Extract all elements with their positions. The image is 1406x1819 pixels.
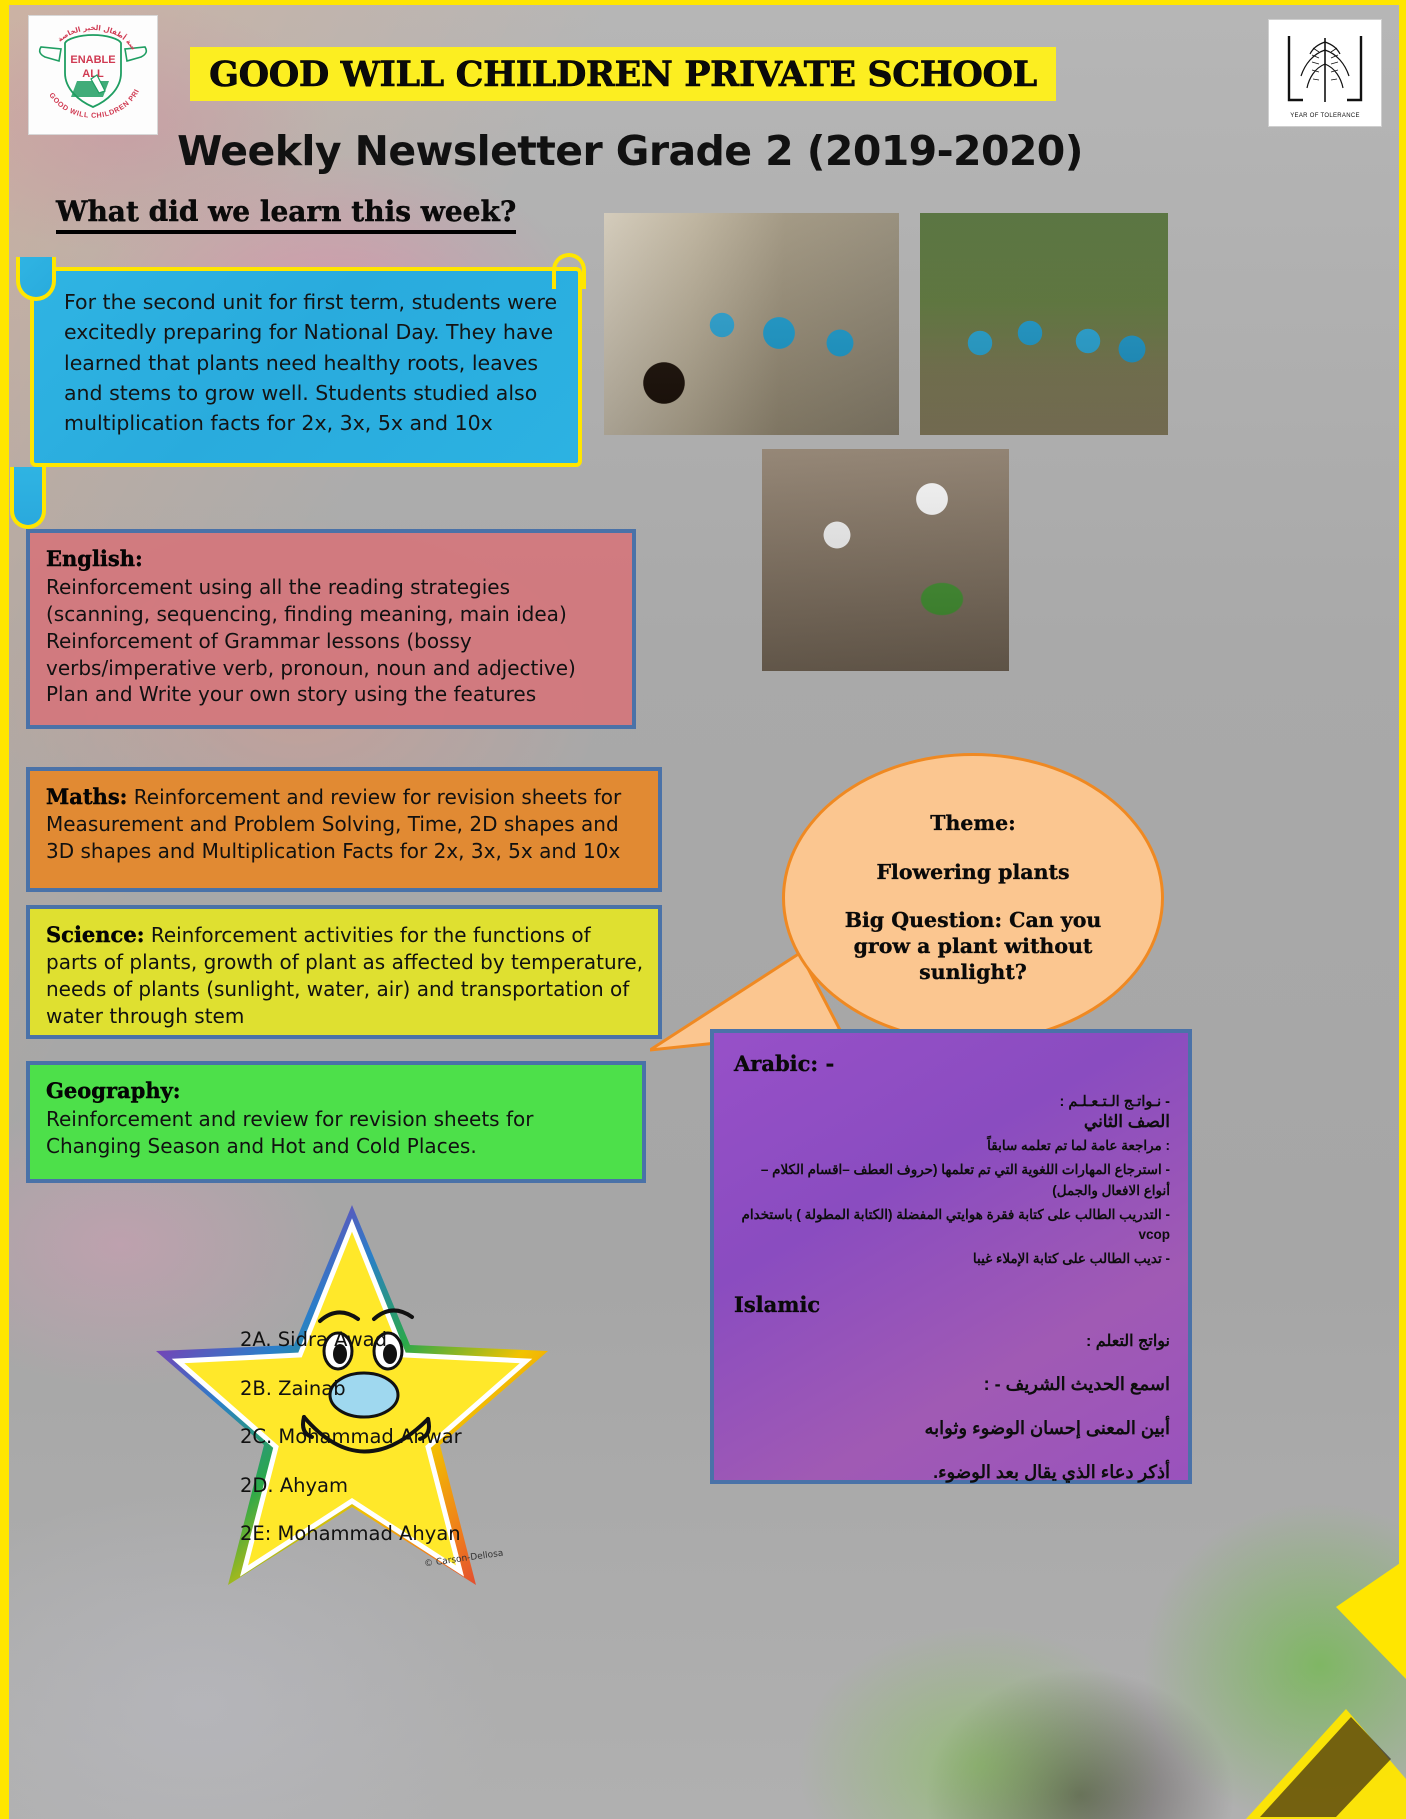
newsletter-page: ENABLE ALL GOOD WILL CHILDREN PRIVATE SC… <box>0 0 1406 1819</box>
subject-body-geography: Reinforcement and review for revision sh… <box>46 1107 533 1158</box>
list-item: 2A. Sidra Awad <box>240 1330 540 1350</box>
theme-label: Theme: <box>930 810 1016 836</box>
weekly-summary-text: For the second unit for first term, stud… <box>34 271 578 449</box>
subject-label-maths: Maths: <box>46 784 127 809</box>
arabic-line-3: - التدريب الطالب على كتابة فقرة هوايتي ا… <box>734 1205 1170 1246</box>
islamic-line-2: اسمع الحديث الشريف - : <box>734 1367 1170 1401</box>
subject-body-maths: Reinforcement and review for revision sh… <box>46 785 621 863</box>
big-question: Big Question: Can you grow a plant witho… <box>825 907 1121 986</box>
page-title: Weekly Newsletter Grade 2 (2019-2020) <box>0 127 1260 175</box>
subject-body-english: Reinforcement using all the reading stra… <box>46 575 576 706</box>
arabic-line-4: - تديب الطالب على كتابة الإملاء غيبا <box>734 1249 1170 1269</box>
subject-box-geography: Geography:Reinforcement and review for r… <box>26 1061 646 1183</box>
scroll-curl-right-icon <box>552 253 586 289</box>
islamic-label: Islamic <box>734 1292 1170 1317</box>
playground-photo <box>604 213 899 435</box>
arabic-outcomes-header: - نـواتـج الـتـعـلـم : <box>734 1094 1170 1110</box>
theme-value: Flowering plants <box>877 859 1070 885</box>
islamic-line-1: نواتج التعلم : <box>734 1327 1170 1357</box>
subject-box-maths: Maths: Reinforcement and review for revi… <box>26 767 662 892</box>
school-logo: ENABLE ALL GOOD WILL CHILDREN PRIVATE SC… <box>28 15 158 135</box>
subject-box-science: Science: Reinforcement activities for th… <box>26 905 662 1039</box>
classroom-photo <box>762 449 1009 671</box>
islamic-line-3: أبين المعنى إحسان الوضوء وثوابه <box>734 1411 1170 1445</box>
list-item: 2B. Zainab <box>240 1379 540 1399</box>
subject-label-geography: Geography: <box>46 1077 628 1105</box>
arabic-islamic-panel: Arabic: - - نـواتـج الـتـعـلـم : الصف ال… <box>710 1029 1192 1484</box>
islamic-line-4: أذكر دعاء الذي يقال بعد الوضوء. <box>734 1455 1170 1489</box>
corner-chevron-decoration <box>1186 1559 1406 1819</box>
arabic-grade: الصف الثاني <box>734 1112 1170 1132</box>
school-name-text: GOOD WILL CHILDREN PRIVATE SCHOOL <box>209 54 1037 95</box>
year-of-tolerance-logo: YEAR OF TOLERANCE <box>1268 19 1382 127</box>
weekly-summary-scroll: For the second unit for first term, stud… <box>30 267 582 467</box>
star-name-list: 2A. Sidra Awad 2B. Zainab 2C. Mohammad A… <box>240 1330 540 1573</box>
section-heading: What did we learn this week? <box>56 195 516 234</box>
school-name-banner: GOOD WILL CHILDREN PRIVATE SCHOOL <box>190 47 1056 101</box>
list-item: 2D. Ahyam <box>240 1476 540 1496</box>
tolerance-palm-icon <box>1279 28 1371 112</box>
group-photo <box>920 213 1168 435</box>
tolerance-caption: YEAR OF TOLERANCE <box>1290 113 1360 119</box>
list-item: 2E: Mohammad Ahyan <box>240 1524 540 1544</box>
scroll-curl-top-icon <box>16 257 56 301</box>
school-crest-icon: ENABLE ALL GOOD WILL CHILDREN PRIVATE SC… <box>31 17 155 133</box>
subject-box-english: English:Reinforcement using all the read… <box>26 529 636 729</box>
theme-speech-bubble: Theme: Flowering plants Big Question: Ca… <box>782 753 1164 1043</box>
subject-label-english: English: <box>46 545 618 573</box>
list-item: 2C. Mohammad Anwar <box>240 1427 540 1447</box>
arabic-label: Arabic: - <box>734 1051 1170 1076</box>
arabic-line-1: : مراجعة عامة لما تم تعلمه سابقاً <box>734 1136 1170 1156</box>
svg-text:ENABLE: ENABLE <box>70 54 115 66</box>
arabic-line-2: - استرجاع المهارات اللغوية التي تم تعلمه… <box>734 1160 1170 1201</box>
scroll-curl-bottom-icon <box>10 467 46 529</box>
subject-label-science: Science: <box>46 922 144 947</box>
